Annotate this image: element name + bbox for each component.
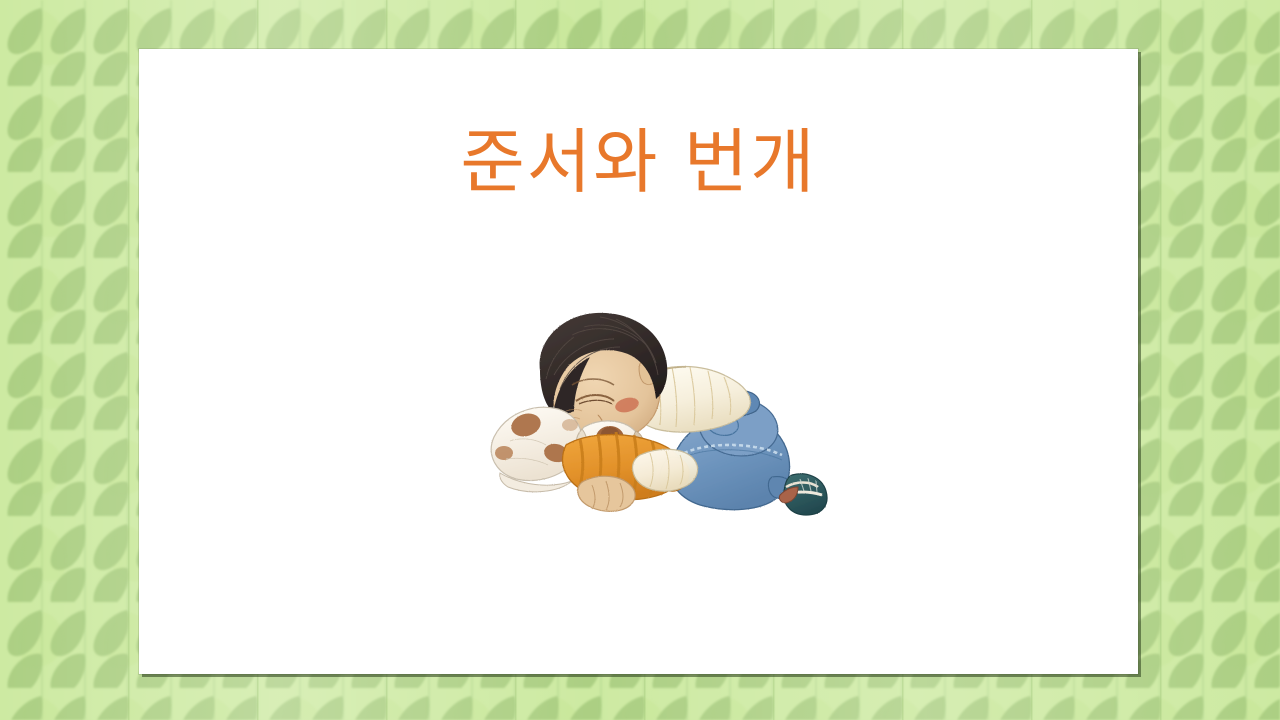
slide-canvas: 준서와 번개 bbox=[139, 49, 1138, 674]
illustration-sleeping-boy-with-puppy bbox=[480, 305, 850, 530]
page-title: 준서와 번개 bbox=[139, 127, 1138, 197]
illustration-shoe bbox=[779, 474, 827, 515]
illustration-shirt-hem bbox=[633, 449, 698, 491]
slide-stage: 준서와 번개 bbox=[0, 0, 1280, 720]
